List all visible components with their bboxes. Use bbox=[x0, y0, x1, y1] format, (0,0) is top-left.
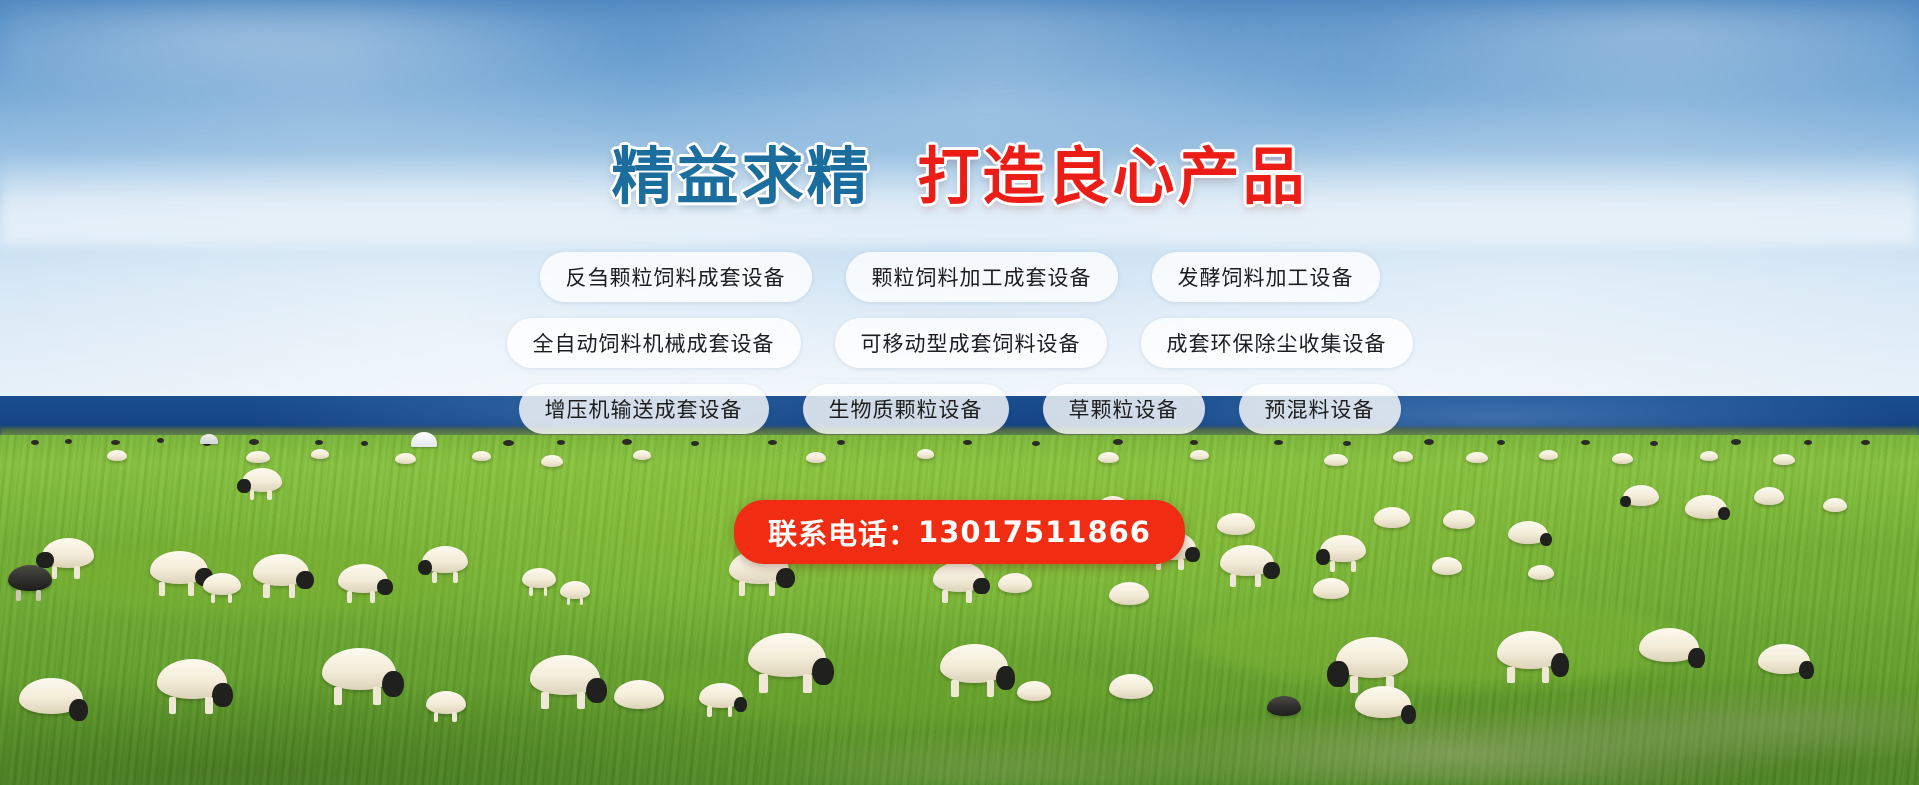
contact-label: 联系电话： bbox=[768, 511, 918, 553]
headline-blue-text: 精益求精 bbox=[611, 146, 871, 208]
promo-banner: 精益求精 打造良心产品 反刍颗粒饲料成套设备 颗粒饲料加工成套设备 发酵饲料加工… bbox=[0, 0, 1919, 785]
pill-row-2: 全自动饲料机械成套设备 可移动型成套饲料设备 成套环保除尘收集设备 bbox=[507, 318, 1413, 368]
category-pill[interactable]: 颗粒饲料加工成套设备 bbox=[846, 252, 1118, 302]
product-category-pills: 反刍颗粒饲料成套设备 颗粒饲料加工成套设备 发酵饲料加工设备 全自动饲料机械成套… bbox=[507, 252, 1413, 434]
contact-phone-badge[interactable]: 联系电话： 13017511866 bbox=[734, 500, 1185, 564]
category-pill[interactable]: 增压机输送成套设备 bbox=[519, 384, 769, 434]
headline: 精益求精 打造良心产品 bbox=[611, 146, 1307, 208]
category-pill[interactable]: 草颗粒设备 bbox=[1043, 384, 1205, 434]
pill-row-3: 增压机输送成套设备 生物质颗粒设备 草颗粒设备 预混料设备 bbox=[519, 384, 1401, 434]
category-pill[interactable]: 反刍颗粒饲料成套设备 bbox=[540, 252, 812, 302]
category-pill[interactable]: 成套环保除尘收集设备 bbox=[1141, 318, 1413, 368]
category-pill[interactable]: 全自动饲料机械成套设备 bbox=[507, 318, 801, 368]
category-pill[interactable]: 预混料设备 bbox=[1239, 384, 1401, 434]
headline-red-text: 打造良心产品 bbox=[918, 146, 1308, 208]
contact-phone-number: 13017511866 bbox=[918, 515, 1151, 549]
category-pill[interactable]: 可移动型成套饲料设备 bbox=[835, 318, 1107, 368]
pill-row-1: 反刍颗粒饲料成套设备 颗粒饲料加工成套设备 发酵饲料加工设备 bbox=[540, 252, 1380, 302]
category-pill[interactable]: 发酵饲料加工设备 bbox=[1152, 252, 1380, 302]
banner-content: 精益求精 打造良心产品 反刍颗粒饲料成套设备 颗粒饲料加工成套设备 发酵饲料加工… bbox=[0, 0, 1919, 785]
category-pill[interactable]: 生物质颗粒设备 bbox=[803, 384, 1009, 434]
